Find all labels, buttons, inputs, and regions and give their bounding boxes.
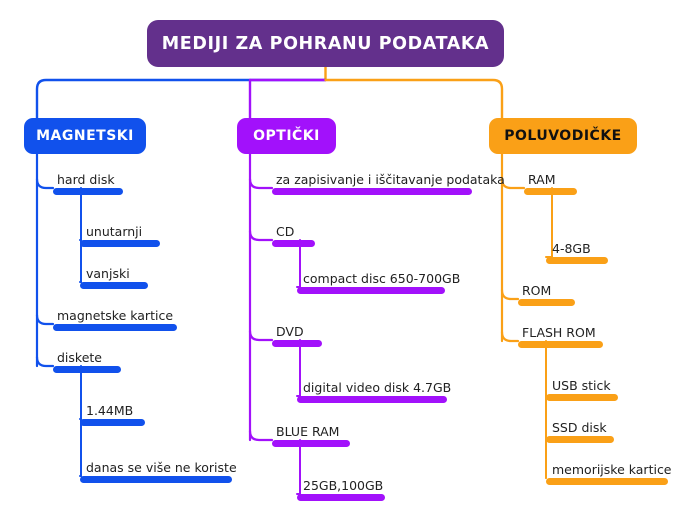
leaf-item[interactable]: unutarnji <box>80 224 160 247</box>
leaf-item-label: diskete <box>57 352 102 365</box>
branch-node-magnetski[interactable]: MAGNETSKI <box>24 118 146 154</box>
leaf-item[interactable]: USB stick <box>546 378 618 401</box>
leaf-item-label: RAM <box>528 174 556 187</box>
leaf-underline-bar <box>53 366 121 373</box>
root-node-label: MEDIJI ZA POHRANU PODATAKA <box>162 34 489 54</box>
leaf-underline-bar <box>297 494 385 501</box>
leaf-item[interactable]: vanjski <box>80 266 148 289</box>
leaf-item-label: 25GB,100GB <box>303 480 383 493</box>
leaf-item[interactable]: hard disk <box>53 172 123 195</box>
leaf-underline-bar <box>80 419 145 426</box>
branch-node-poluvodicke-label: POLUVODIČKE <box>504 128 621 144</box>
leaf-underline-bar <box>546 478 668 485</box>
leaf-item-label: unutarnji <box>86 226 142 239</box>
leaf-underline-bar <box>272 440 350 447</box>
leaf-underline-bar <box>80 476 232 483</box>
leaf-item-label: FLASH ROM <box>522 327 596 340</box>
leaf-item[interactable]: 4-8GB <box>546 241 608 264</box>
leaf-underline-bar <box>272 188 472 195</box>
branch-node-poluvodicke[interactable]: POLUVODIČKE <box>489 118 637 154</box>
leaf-item[interactable]: diskete <box>53 350 121 373</box>
leaf-item[interactable]: danas se više ne koriste <box>80 460 232 483</box>
leaf-item-label: magnetske kartice <box>57 310 173 323</box>
leaf-item[interactable]: digital video disk 4.7GB <box>297 380 447 403</box>
leaf-underline-bar <box>518 341 603 348</box>
branch-node-magnetski-label: MAGNETSKI <box>36 128 134 144</box>
leaf-item[interactable]: ROM <box>518 283 575 306</box>
leaf-item-label: ROM <box>522 285 551 298</box>
leaf-underline-bar <box>272 340 322 347</box>
leaf-item[interactable]: FLASH ROM <box>518 325 603 348</box>
leaf-underline-bar <box>80 282 148 289</box>
branch-node-opticki-label: OPTIČKI <box>253 128 320 144</box>
leaf-item[interactable]: magnetske kartice <box>53 308 177 331</box>
leaf-item-label: danas se više ne koriste <box>86 462 237 475</box>
leaf-item-label: memorijske kartice <box>552 464 672 477</box>
leaf-item[interactable]: CD <box>272 224 315 247</box>
leaf-underline-bar <box>297 287 445 294</box>
leaf-item-label: BLUE RAM <box>276 426 339 439</box>
leaf-item-label: DVD <box>276 326 304 339</box>
leaf-item-label: compact disc 650-700GB <box>303 273 460 286</box>
leaf-item-label: CD <box>276 226 294 239</box>
root-node[interactable]: MEDIJI ZA POHRANU PODATAKA <box>147 20 504 67</box>
leaf-underline-bar <box>518 299 575 306</box>
leaf-item-label: digital video disk 4.7GB <box>303 382 451 395</box>
leaf-underline-bar <box>53 324 177 331</box>
leaf-item-label: 4-8GB <box>552 243 591 256</box>
branch-node-opticki[interactable]: OPTIČKI <box>237 118 336 154</box>
leaf-item-label: hard disk <box>57 174 115 187</box>
leaf-item[interactable]: memorijske kartice <box>546 462 668 485</box>
leaf-item-label: SSD disk <box>552 422 607 435</box>
leaf-underline-bar <box>524 188 577 195</box>
leaf-item-label: 1.44MB <box>86 405 133 418</box>
leaf-item[interactable]: BLUE RAM <box>272 424 350 447</box>
leaf-underline-bar <box>546 436 614 443</box>
leaf-item[interactable]: za zapisivanje i iščitavanje podataka <box>272 172 472 195</box>
leaf-item[interactable]: 1.44MB <box>80 403 145 426</box>
leaf-underline-bar <box>53 188 123 195</box>
leaf-item[interactable]: RAM <box>524 172 577 195</box>
leaf-underline-bar <box>80 240 160 247</box>
leaf-underline-bar <box>546 257 608 264</box>
leaf-item[interactable]: DVD <box>272 324 322 347</box>
leaf-item-label: za zapisivanje i iščitavanje podataka <box>276 174 505 187</box>
leaf-underline-bar <box>297 396 447 403</box>
leaf-underline-bar <box>272 240 315 247</box>
leaf-underline-bar <box>546 394 618 401</box>
leaf-item-label: USB stick <box>552 380 611 393</box>
mindmap-canvas: MEDIJI ZA POHRANU PODATAKA MAGNETSKI OPT… <box>0 0 696 520</box>
leaf-item[interactable]: 25GB,100GB <box>297 478 385 501</box>
leaf-item-label: vanjski <box>86 268 130 281</box>
leaf-item[interactable]: compact disc 650-700GB <box>297 271 445 294</box>
leaf-item[interactable]: SSD disk <box>546 420 614 443</box>
